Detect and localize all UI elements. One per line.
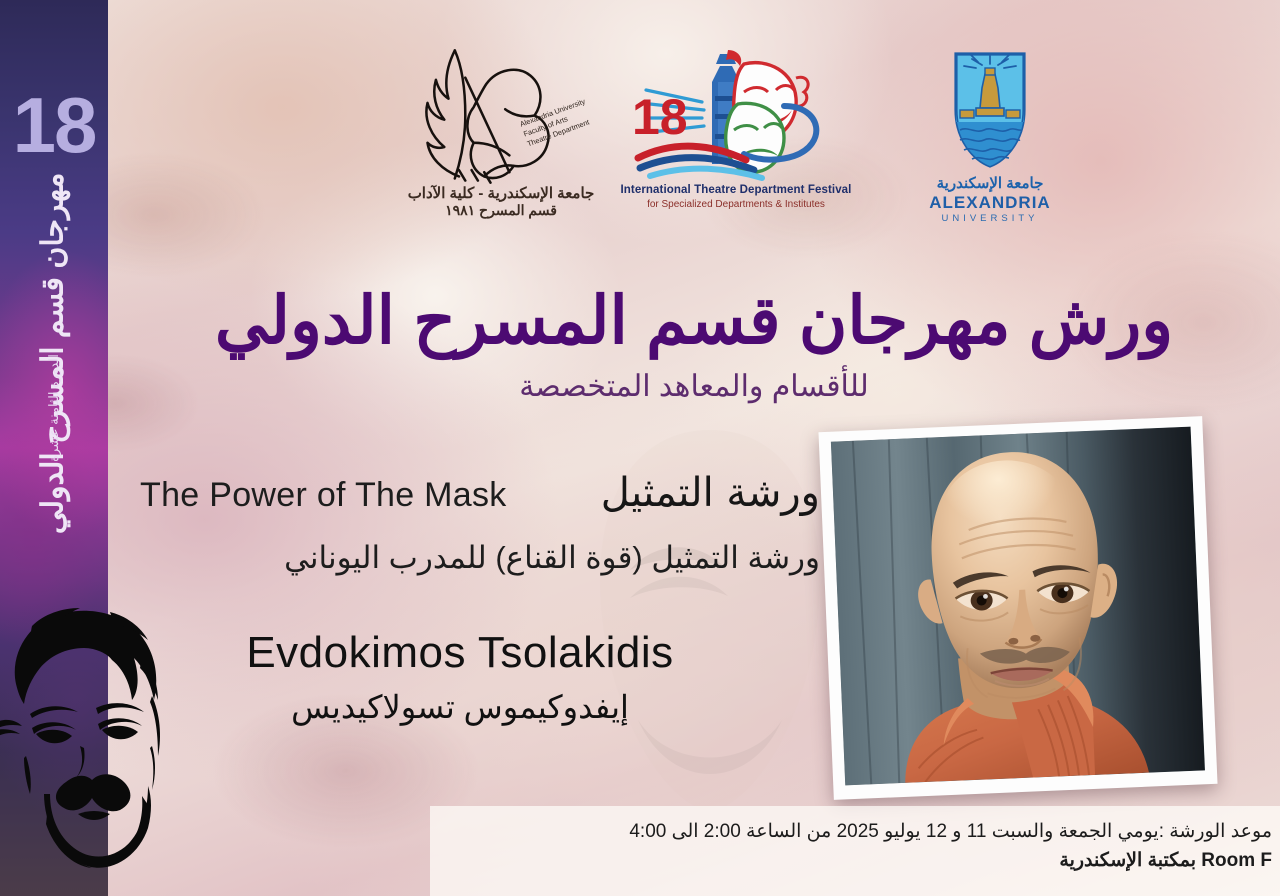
workshop-title-row: The Power of The Mask ورشة التمثيل [140,470,820,516]
alexandria-university-caption-line1: ALEXANDRIA [890,193,1090,213]
trainer-portrait-photo [831,427,1205,786]
footer-venue: بمكتبة الإسكندرية [1059,850,1196,871]
alexandria-university-crest-icon [890,48,1090,172]
logo-row: Alexandria University Faculty of Arts Th… [108,34,1280,254]
festival-caption-line2: for Specialized Departments & Institutes [616,199,856,210]
alexandria-university-arabic-caption: جامعة الإسكندرية [890,174,1090,192]
footer-schedule-line: موعد الورشة :يومي الجمعة والسبت 11 و 12 … [440,818,1272,847]
trainer-name-en: Evdokimos Tsolakidis [180,628,740,678]
sidebar-festival-subtitle: الدورة الثامنة عشرة [46,338,62,478]
workshop-description-ar: ورشة التمثيل (قوة القناع) للمدرب اليونان… [140,540,820,576]
poster-title: ورش مهرجان قسم المسرح الدولي [108,286,1280,355]
svg-text:18: 18 [632,89,688,145]
logo-alexandria-university: جامعة الإسكندرية ALEXANDRIA UNIVERSITY [890,48,1090,224]
logo-festival: 18 International Theatre Department Fest… [616,48,856,210]
workshop-title-en: The Power of The Mask [140,476,507,515]
poster-subtitle: للأقسام والمعاهد المتخصصة [108,370,1280,403]
edition-number: 18 [0,86,108,164]
footer-venue-line: Room F بمكتبة الإسكندرية [440,847,1272,876]
workshop-title-ar: ورشة التمثيل [601,470,820,516]
logo-faculty-of-arts: Alexandria University Faculty of Arts Th… [396,42,606,219]
footer-details: موعد الورشة :يومي الجمعة والسبت 11 و 12 … [440,818,1272,875]
trainer-photo-frame [818,416,1217,800]
faculty-of-arts-mark-icon: Alexandria University Faculty of Arts Th… [396,42,606,182]
faculty-of-arts-caption-line2: قسم المسرح ١٩٨١ [396,202,606,219]
festival-mark-icon: 18 [616,48,856,184]
poster-canvas: 18 مهرجان قسم المسرح الدولي الدورة الثام… [0,0,1280,896]
festival-caption-line1: International Theatre Department Festiva… [616,184,856,196]
footer-room: Room F [1201,847,1272,876]
trainer-name-ar: إيفدوكيموس تسولاكيديس [180,688,740,726]
alexandria-university-caption-line2: UNIVERSITY [890,213,1090,224]
left-vertical-band: 18 مهرجان قسم المسرح الدولي الدورة الثام… [0,0,108,896]
